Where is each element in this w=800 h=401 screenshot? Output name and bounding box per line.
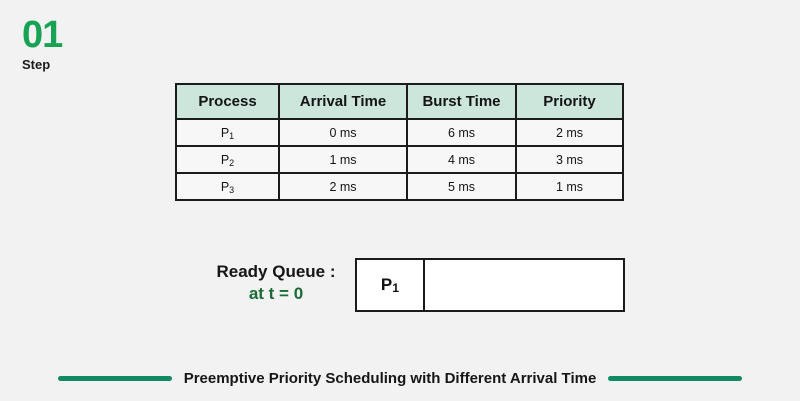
caption-rule-left <box>58 376 172 381</box>
process-table-container: Process Arrival Time Burst Time Priority… <box>175 83 622 201</box>
process-subscript: 1 <box>229 131 234 141</box>
table-row: P2 1 ms 4 ms 3 ms <box>176 146 623 173</box>
cell-priority: 2 ms <box>516 119 623 146</box>
ready-queue-label-group: Ready Queue : at t = 0 <box>191 262 361 305</box>
column-header-arrival-time: Arrival Time <box>279 84 407 119</box>
process-subscript: 2 <box>229 158 234 168</box>
ready-queue-time-label: at t = 0 <box>191 284 361 304</box>
process-table: Process Arrival Time Burst Time Priority… <box>175 83 624 201</box>
cell-arrival-time: 1 ms <box>279 146 407 173</box>
cell-burst-time: 6 ms <box>407 119 516 146</box>
cell-process: P1 <box>176 119 279 146</box>
column-header-process: Process <box>176 84 279 119</box>
column-header-priority: Priority <box>516 84 623 119</box>
cell-process: P3 <box>176 173 279 200</box>
cell-process: P2 <box>176 146 279 173</box>
ready-queue-title: Ready Queue : <box>191 262 361 282</box>
ready-queue-box: P1 <box>355 258 625 312</box>
table-row: P1 0 ms 6 ms 2 ms <box>176 119 623 146</box>
table-row: P3 2 ms 5 ms 1 ms <box>176 173 623 200</box>
queue-slot-0: P1 <box>357 260 425 310</box>
step-label: Step <box>22 58 142 71</box>
cell-burst-time: 4 ms <box>407 146 516 173</box>
table-header-row: Process Arrival Time Burst Time Priority <box>176 84 623 119</box>
caption-text: Preemptive Priority Scheduling with Diff… <box>184 370 597 387</box>
process-subscript: 3 <box>229 185 234 195</box>
caption-rule-right <box>608 376 742 381</box>
process-label: P <box>221 153 229 167</box>
cell-arrival-time: 2 ms <box>279 173 407 200</box>
queue-slot-1 <box>425 260 623 310</box>
step-badge: 01 Step <box>22 16 142 71</box>
process-label: P <box>221 180 229 194</box>
cell-burst-time: 5 ms <box>407 173 516 200</box>
cell-priority: 3 ms <box>516 146 623 173</box>
process-label: P <box>221 126 229 140</box>
queue-process-label: P <box>381 275 392 295</box>
cell-arrival-time: 0 ms <box>279 119 407 146</box>
column-header-burst-time: Burst Time <box>407 84 516 119</box>
caption-bar: Preemptive Priority Scheduling with Diff… <box>0 365 800 391</box>
ready-queue-section: Ready Queue : at t = 0 P1 <box>175 256 635 316</box>
cell-priority: 1 ms <box>516 173 623 200</box>
step-number: 01 <box>22 16 142 54</box>
